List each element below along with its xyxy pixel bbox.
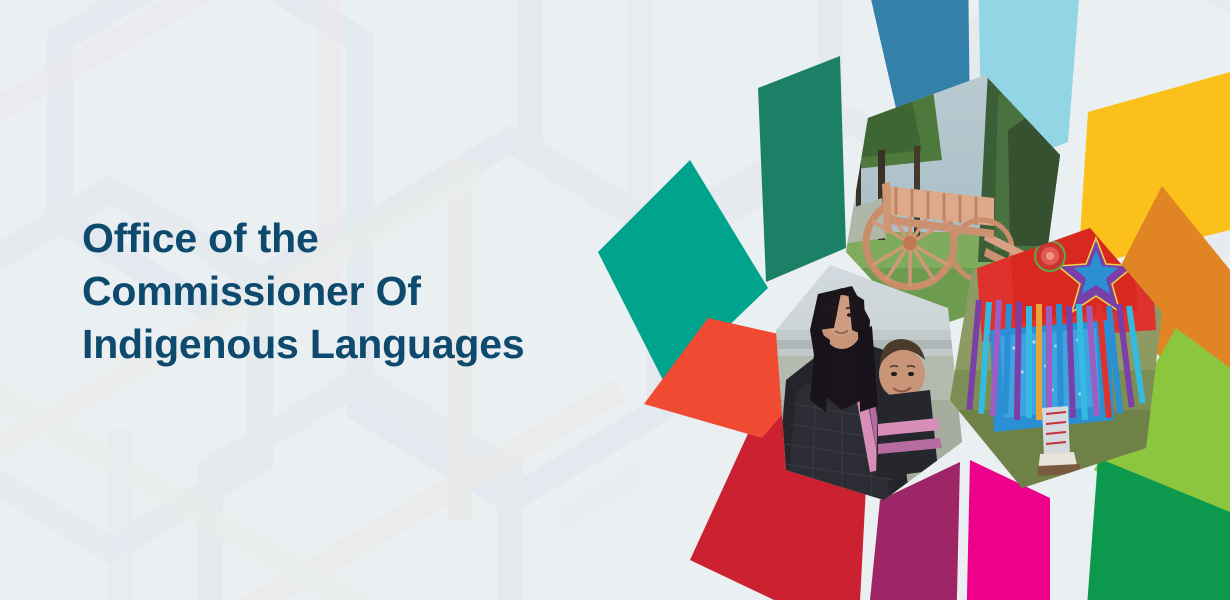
- headline: Office of the Commissioner Of Indigenous…: [82, 212, 622, 371]
- headline-line-3: Indigenous Languages: [82, 318, 622, 371]
- banner: Office of the Commissioner Of Indigenous…: [0, 0, 1230, 600]
- petal-forest-green: [758, 56, 846, 282]
- headline-line-2: Commissioner Of: [82, 265, 622, 318]
- geometric-star-rosette: [590, 0, 1230, 600]
- page-title: Office of the Commissioner Of Indigenous…: [82, 212, 622, 371]
- headline-line-1: Office of the: [82, 212, 622, 265]
